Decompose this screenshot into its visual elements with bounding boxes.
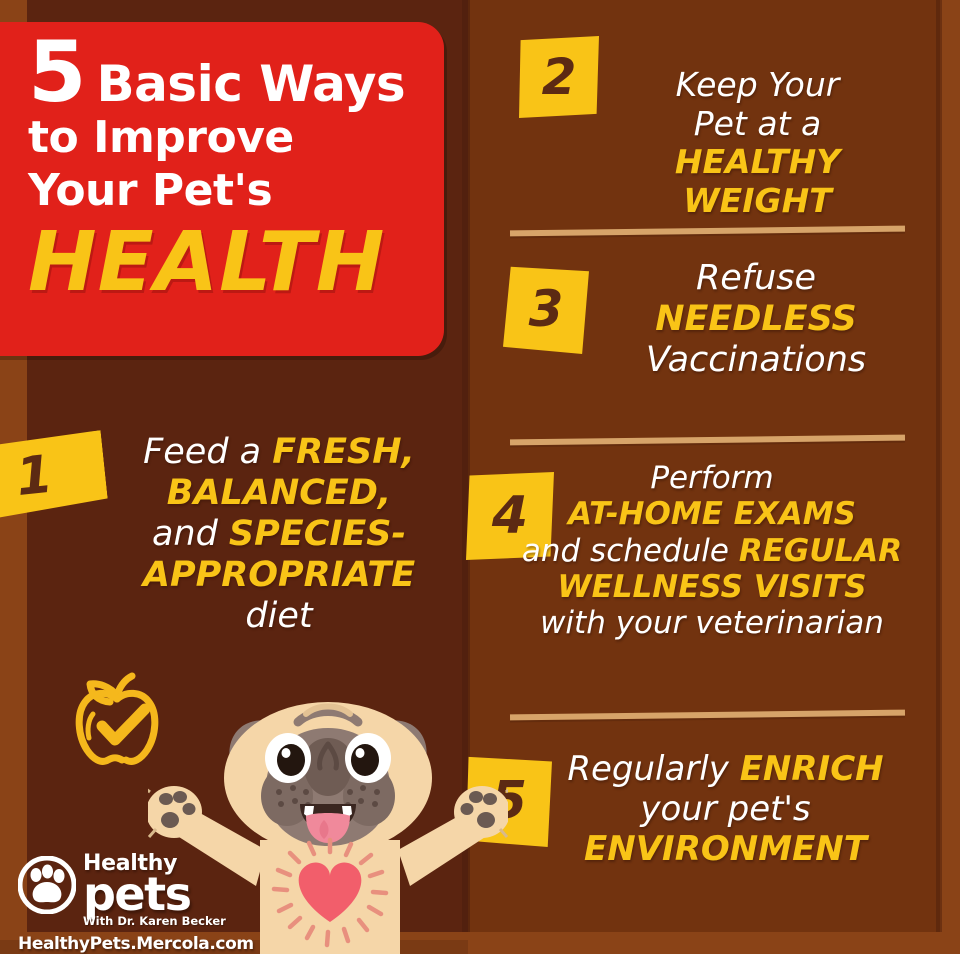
- logo-website-url[interactable]: HealthyPets.Mercola.com: [18, 934, 233, 954]
- tip-text-2: Keep YourPet at aHEALTHY WEIGHT: [600, 66, 915, 220]
- tip-line-4: WELLNESS VISITS: [506, 569, 918, 605]
- tip-line-3: ENVIRONMENT: [528, 830, 923, 870]
- tip-number-badge-2: 2: [519, 36, 599, 118]
- tip-text-1: Feed a FRESH,BALANCED,and SPECIES-APPROP…: [104, 432, 454, 637]
- tip-line-3: Vaccinations: [600, 340, 912, 381]
- tip-text-4: PerformAT-HOME EXAMSand schedule REGULAR…: [506, 460, 918, 641]
- tip-line-5: with your veterinarian: [506, 605, 918, 641]
- tip-line-3: and SPECIES-: [104, 514, 454, 555]
- logo-pets-word: pets: [83, 876, 226, 914]
- title-highlight-health: HEALTH: [28, 222, 444, 304]
- paw-in-circle-icon: [18, 856, 76, 918]
- tip-line-2: your pet's: [528, 790, 923, 830]
- tip-number-badge-3: 3: [503, 264, 589, 354]
- tip-line-1: Refuse: [600, 258, 912, 299]
- tip-line-1: Perform: [506, 460, 918, 496]
- tip-text-3: RefuseNEEDLESSVaccinations: [600, 258, 912, 381]
- title-line-1: 5 Basic Ways: [28, 36, 444, 109]
- tip-line-2: NEEDLESS: [600, 299, 912, 340]
- tip-line-3: and schedule REGULAR: [506, 533, 918, 569]
- title-line-3: Your Pet's: [28, 166, 444, 215]
- title-number: 5: [28, 36, 84, 108]
- brand-logo[interactable]: Healthy pets With Dr. Karen Becker Healt…: [18, 856, 233, 948]
- tip-line-1: Feed a FRESH,: [104, 432, 454, 473]
- background-right-strip: [940, 0, 960, 954]
- tip-line-4: APPROPRIATE diet: [104, 555, 454, 637]
- logo-byline: With Dr. Karen Becker: [83, 916, 226, 928]
- tip-line-1: Keep Your: [600, 66, 915, 105]
- tip-line-2: AT-HOME EXAMS: [506, 496, 918, 532]
- title-basic-ways: Basic Ways: [96, 59, 405, 109]
- tip-line-1: Regularly ENRICH: [528, 750, 923, 790]
- tip-line-2: Pet at a: [600, 105, 915, 144]
- title-block: 5 Basic Ways to Improve Your Pet's HEALT…: [0, 22, 444, 356]
- panel-seam-right: [936, 0, 942, 954]
- title-line-2: to Improve: [28, 113, 444, 162]
- tip-text-5: Regularly ENRICHyour pet'sENVIRONMENT: [528, 750, 923, 869]
- infographic-canvas: 5 Basic Ways to Improve Your Pet's HEALT…: [0, 0, 960, 954]
- tip-line-2: BALANCED,: [104, 473, 454, 514]
- tip-line-3: HEALTHY WEIGHT: [600, 143, 915, 220]
